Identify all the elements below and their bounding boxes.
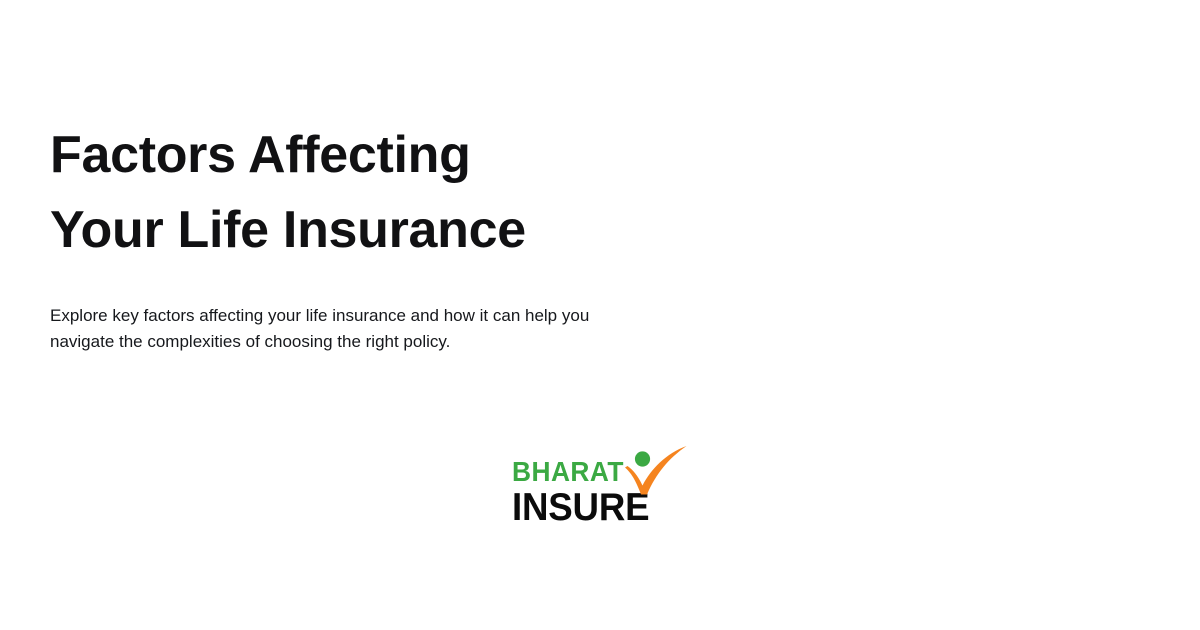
brand-logo: BHARAT INSURE xyxy=(0,444,1200,526)
brand-name-bharat: BHARAT xyxy=(512,458,649,486)
headline-block: Factors Affecting Your Life Insurance xyxy=(50,118,670,268)
subcopy-block: Explore key factors affecting your life … xyxy=(50,303,612,354)
brand-wordmark: BHARAT INSURE xyxy=(512,458,658,527)
brand-name-insure: INSURE xyxy=(512,488,649,527)
brand-logo-inner: BHARAT INSURE xyxy=(512,444,688,526)
hero-banner: Factors Affecting Your Life Insurance Ex… xyxy=(0,0,1200,630)
page-subtitle: Explore key factors affecting your life … xyxy=(50,303,612,354)
page-title: Factors Affecting Your Life Insurance xyxy=(50,118,670,268)
